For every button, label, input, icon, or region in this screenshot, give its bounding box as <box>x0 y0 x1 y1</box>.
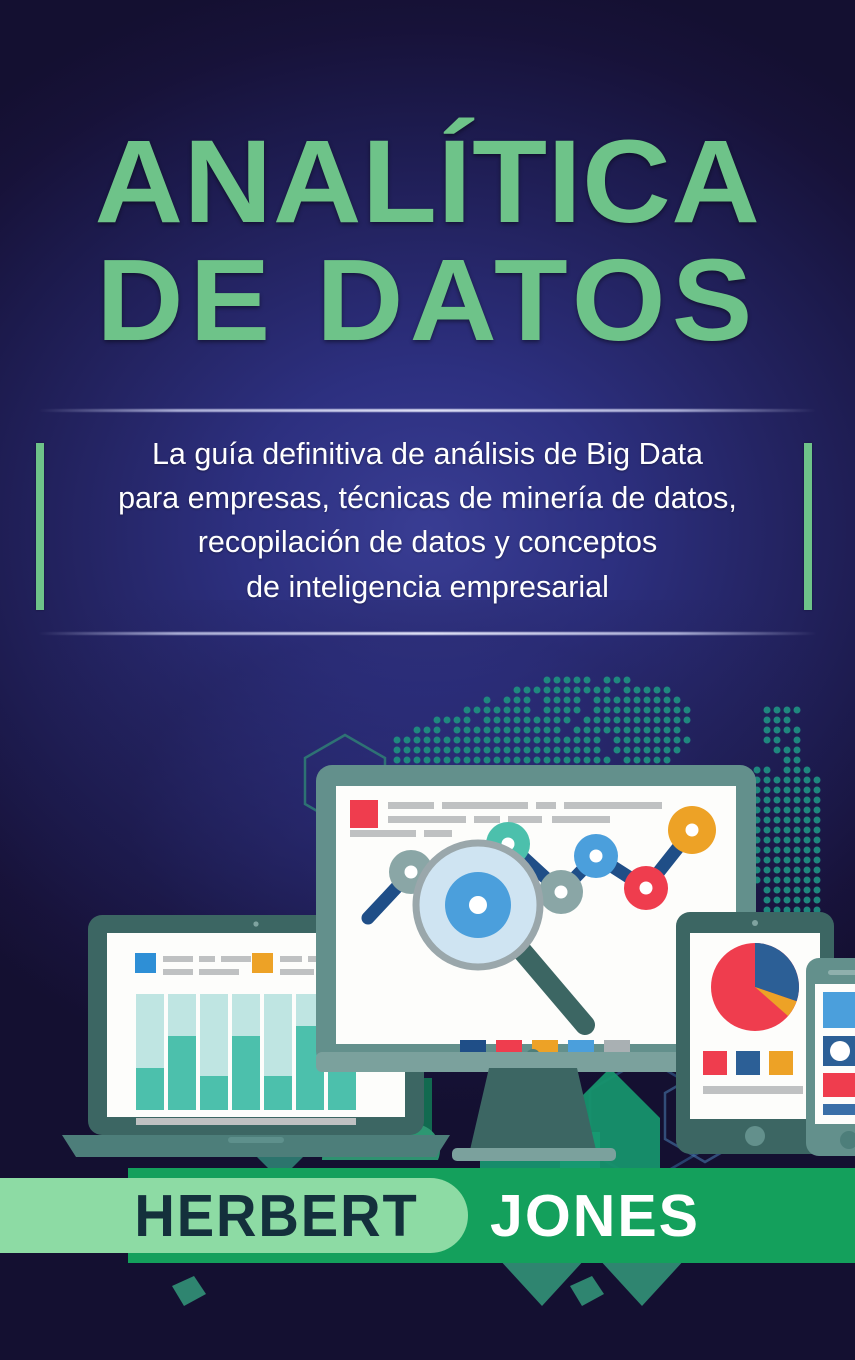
tablet-legend-swatches <box>703 1051 793 1075</box>
phone-circle-white <box>830 1041 850 1061</box>
laptop-camera <box>253 921 258 926</box>
diamond-3 <box>172 1276 206 1306</box>
book-cover: ANALÍTICA DE DATOS La guía definitiva de… <box>0 0 855 1360</box>
phone-speaker <box>828 970 855 975</box>
subtitle-line-3: recopilación de datos y conceptos <box>60 520 795 564</box>
chart-point-6 <box>668 806 716 854</box>
divider-top <box>38 409 817 412</box>
monitor-stand-neck <box>470 1068 596 1150</box>
author-first-name: HERBERT <box>23 1178 468 1253</box>
subtitle-bar-right <box>804 443 812 610</box>
chart-point-4 <box>574 834 618 878</box>
chevron-down-2 <box>598 1258 686 1306</box>
divider-bottom <box>38 632 817 635</box>
title-line-1: ANALÍTICA <box>0 128 855 237</box>
laptop-legend-swatch-orange <box>252 953 273 973</box>
bar-4 <box>232 994 260 1110</box>
monitor-header-swatch <box>350 800 378 828</box>
title-line-2: DE DATOS <box>0 247 855 354</box>
phone-block-red <box>823 1073 855 1097</box>
monitor-stand-base <box>452 1148 616 1161</box>
magnifier-focus-center <box>469 896 487 914</box>
subtitle-line-2: para empresas, técnicas de minería de da… <box>60 476 795 520</box>
tablet-pie-chart <box>711 943 799 1031</box>
laptop-legend-swatch-blue <box>135 953 156 973</box>
laptop-axis-bar <box>136 1118 356 1125</box>
devices-illustration <box>0 640 855 1200</box>
subtitle-block: La guía definitiva de análisis de Big Da… <box>60 432 795 609</box>
tablet-camera <box>752 920 758 926</box>
subtitle-bar-left <box>36 443 44 610</box>
phone-block-blue <box>823 992 855 1028</box>
bar-1 <box>136 994 164 1110</box>
tablet-home-button <box>745 1126 765 1146</box>
phone-block-bluebar <box>823 1104 855 1115</box>
bar-2 <box>168 994 196 1110</box>
subtitle-line-4: de inteligencia empresarial <box>60 565 795 609</box>
diamond-1 <box>570 1276 604 1306</box>
smartphone-device <box>806 958 855 1156</box>
bar-5 <box>264 994 292 1110</box>
bottom-decorations <box>0 1258 855 1360</box>
tablet-axis-bar <box>703 1086 803 1094</box>
laptop-trackpad-notch <box>228 1137 284 1143</box>
bar-3 <box>200 994 228 1110</box>
author-last-name: JONES <box>490 1178 700 1253</box>
title-block: ANALÍTICA DE DATOS <box>0 128 855 353</box>
chevron-down-1 <box>498 1258 586 1306</box>
chart-point-3 <box>539 870 583 914</box>
subtitle-line-1: La guía definitiva de análisis de Big Da… <box>60 432 795 476</box>
chart-point-5 <box>624 866 668 910</box>
